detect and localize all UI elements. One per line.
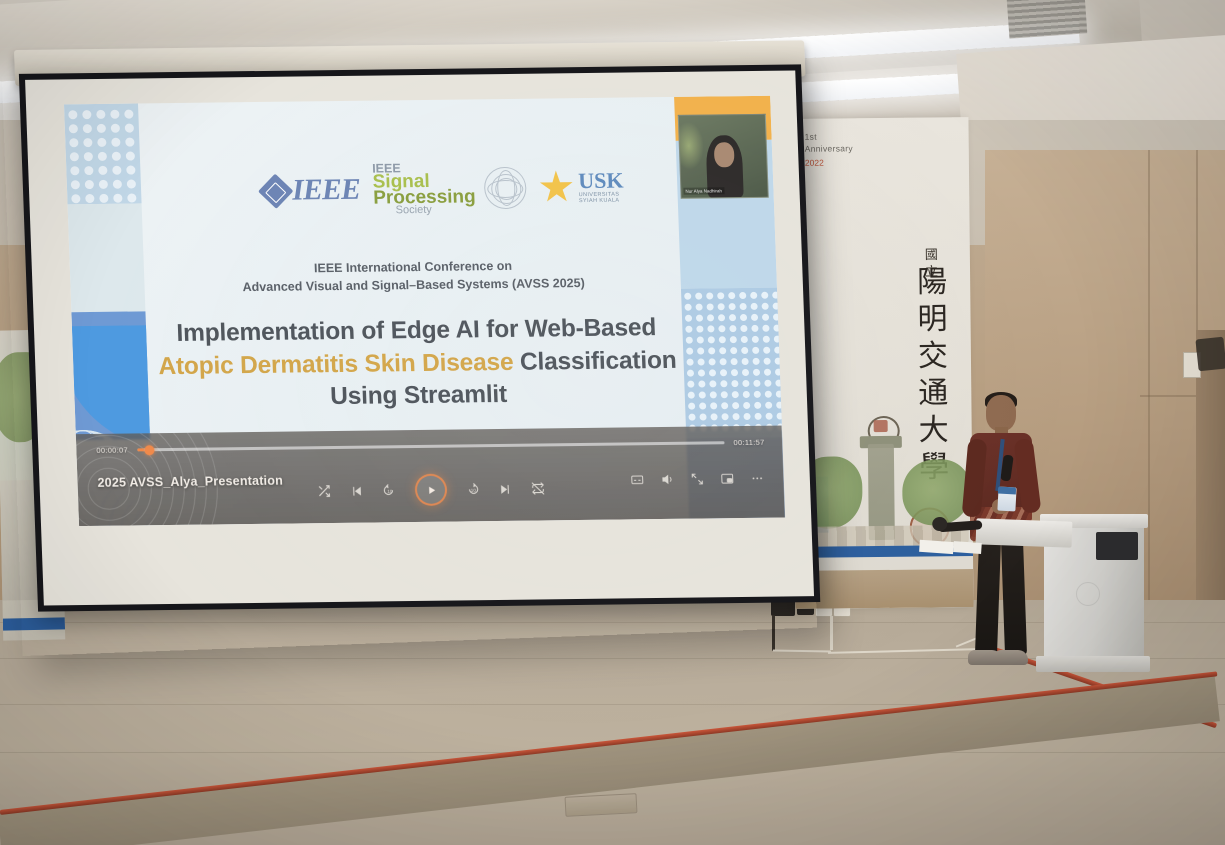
slide-blue-block bbox=[71, 311, 150, 440]
usk-sub-2: SYIAH KUALA bbox=[579, 198, 624, 205]
previous-track-icon[interactable] bbox=[350, 484, 363, 497]
player-controls-right bbox=[631, 472, 764, 487]
ieee-wordmark: IEEE bbox=[292, 175, 361, 206]
current-time-label: 00:00:07 bbox=[96, 446, 128, 455]
wall-bracket bbox=[1195, 337, 1225, 372]
anniversary-line-2: Anniversary bbox=[805, 143, 853, 156]
conference-name: IEEE International Conference on Advance… bbox=[144, 255, 683, 298]
rewind-10-icon[interactable]: 10 bbox=[382, 483, 397, 497]
slide-dot-pattern bbox=[64, 103, 142, 204]
repeat-off-icon[interactable] bbox=[531, 481, 546, 495]
slide-panel bbox=[68, 203, 146, 312]
usk-wordmark: USK bbox=[578, 170, 624, 193]
podium-paper bbox=[953, 541, 982, 554]
player-controls-center: 10 10 bbox=[316, 472, 545, 507]
video-player-bar: 00:00:07 00:11:57 2025 AVSS_Alya_Present… bbox=[76, 426, 785, 527]
play-icon[interactable] bbox=[414, 474, 447, 506]
sps-network-icon bbox=[484, 167, 528, 209]
power-cable bbox=[830, 616, 833, 650]
forward-10-icon[interactable]: 10 bbox=[466, 482, 481, 496]
podium-emblem-icon bbox=[1076, 582, 1100, 606]
projected-slide: IEEE IEEE Signal Processing Society USK … bbox=[64, 96, 785, 526]
podium-shelf bbox=[976, 518, 1073, 547]
ieee-sps-logo: IEEE Signal Processing Society bbox=[372, 161, 476, 216]
art-foliage bbox=[902, 459, 971, 526]
slide-dot-pattern-right bbox=[681, 288, 782, 439]
fullscreen-icon[interactable] bbox=[691, 472, 704, 485]
svg-text:10: 10 bbox=[387, 489, 393, 494]
presenter-head bbox=[986, 395, 1016, 431]
volume-icon[interactable] bbox=[661, 473, 674, 486]
usk-star-icon bbox=[539, 170, 574, 204]
title-line-2: Atopic Dermatitis Skin Disease Classific… bbox=[147, 344, 688, 383]
art-monument-emblem bbox=[874, 420, 888, 432]
shuffle-icon[interactable] bbox=[317, 484, 332, 498]
anniversary-line-1: 1st bbox=[805, 130, 853, 143]
anniversary-year: 2022 bbox=[805, 156, 853, 169]
presenter-legs bbox=[976, 538, 1028, 656]
seek-progress bbox=[137, 448, 144, 451]
webcam-face bbox=[714, 142, 735, 167]
floor-vent-icon bbox=[565, 793, 638, 817]
title-line-2-rest: Classification bbox=[513, 346, 677, 375]
next-track-icon[interactable] bbox=[499, 482, 512, 495]
presentation-room-photo: 1st Anniversary 2022 國立 陽明交通大學 bbox=[0, 0, 1225, 845]
air-vent-icon bbox=[1007, 0, 1088, 39]
name-badge-header bbox=[998, 487, 1016, 495]
ieee-logo: IEEE bbox=[263, 175, 361, 206]
picture-in-picture-icon[interactable] bbox=[721, 472, 734, 485]
webcam-overlay: Nur Alya Nadhirah bbox=[678, 114, 769, 199]
more-options-icon[interactable] bbox=[751, 472, 764, 485]
podium-monitor bbox=[1096, 532, 1138, 560]
presenter-shoe bbox=[994, 650, 1028, 665]
projector-screen: IEEE IEEE Signal Processing Society USK … bbox=[14, 40, 826, 649]
slide-title: Implementation of Edge AI for Web-Based … bbox=[146, 312, 690, 416]
podium-paper bbox=[919, 540, 954, 554]
duration-label: 00:11:57 bbox=[733, 438, 764, 447]
podium bbox=[1034, 508, 1152, 674]
ieee-diamond-icon bbox=[258, 173, 293, 208]
seek-handle[interactable] bbox=[144, 445, 154, 455]
subtitles-icon[interactable] bbox=[631, 473, 644, 486]
anniversary-text: 1st Anniversary 2022 bbox=[805, 130, 854, 168]
video-filename: 2025 AVSS_Alya_Presentation bbox=[97, 474, 283, 490]
title-highlight: Atopic Dermatitis Skin Disease bbox=[158, 348, 514, 379]
usk-logo: USK UNIVERSITAS SYIAH KUALA bbox=[539, 170, 624, 205]
slide-logo-row: IEEE IEEE Signal Processing Society USK … bbox=[262, 160, 624, 219]
podium-base bbox=[1036, 656, 1150, 672]
webcam-backdrop bbox=[678, 122, 705, 170]
svg-text:10: 10 bbox=[471, 488, 477, 493]
title-line-3: Using Streamlit bbox=[148, 377, 689, 416]
webcam-name-label: Nur Alya Nadhirah bbox=[683, 187, 724, 194]
